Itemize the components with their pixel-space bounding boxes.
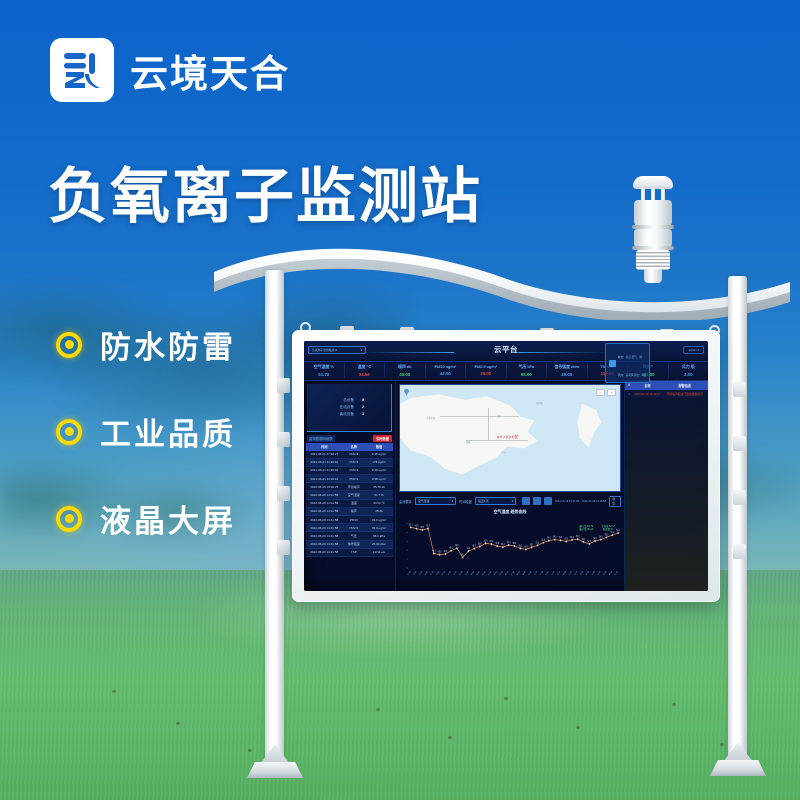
metric-label: PM10 ug/m³ <box>426 364 466 369</box>
table-row[interactable]: 2021-06-21 11:30:42PM2.50.38 ug/m³ <box>306 467 393 475</box>
monitoring-data-table[interactable]: 时间名称数值 2021-06-21 17:30:27PM2.50.38 ug/m… <box>306 443 393 592</box>
table-cell: 2020-06-16 16:30:27 <box>306 483 343 490</box>
metric-value: 98.00 <box>507 372 547 377</box>
table-cell: 2022-06-20 13:31:58 <box>306 508 343 515</box>
table-cell: 2021-06-21 11:30:42 <box>306 467 343 474</box>
table-cell: PM2.5 <box>343 475 366 482</box>
center-panel: 北京 上海 广州 成都 乌鲁木齐 哈尔滨 中华人民共和国 − + <box>396 381 624 592</box>
s-curve-canopy <box>212 244 792 320</box>
table-cell: 2022-06-20 13:31:58 <box>306 500 343 507</box>
svg-text:52.8: 52.8 <box>542 539 546 541</box>
svg-text:12:00: 12:00 <box>540 570 544 575</box>
svg-text:60.9: 60.9 <box>415 525 419 527</box>
svg-text:05:00: 05:00 <box>499 570 503 575</box>
table-row[interactable]: 2022-06-20 13:31:58PM1043.0 ug/m³ <box>306 516 393 524</box>
svg-text:15:00: 15:00 <box>557 570 561 575</box>
map-city-label: 哈尔滨 <box>536 401 543 405</box>
mount-bracket <box>733 382 746 397</box>
export-button[interactable]: 导出 <box>609 496 621 507</box>
table-cell: 2022-06-20 13:31:58 <box>306 516 343 523</box>
zoom-in-button[interactable]: + <box>607 389 616 396</box>
svg-text:02:00: 02:00 <box>482 570 486 575</box>
metric-cell: 风力 级3.00 <box>669 363 709 378</box>
svg-text:23:00: 23:00 <box>603 570 607 575</box>
svg-text:60.2: 60.2 <box>421 526 425 528</box>
table-cell: 噪声 <box>343 508 366 515</box>
table-row[interactable]: 2020-06-16 16:30:27环境噪声35.79 db <box>306 483 393 491</box>
svg-text:19:00: 19:00 <box>580 570 584 575</box>
svg-text:50.2: 50.2 <box>501 543 505 545</box>
table-cell: 0.38 ug/m³ <box>365 451 393 458</box>
svg-text:54.4: 54.4 <box>570 536 574 538</box>
table-cell: 35.79 db <box>365 483 393 490</box>
table-cell: 信号强度 <box>343 541 366 548</box>
left-panel: 总设备5在线设备2离线设备3 监测数据明细表 实时数据 时间名称数值 2021-… <box>304 381 396 592</box>
map-country-label: 中华人民共和国 <box>497 435 518 439</box>
feature-item: 防水防雷 <box>56 322 236 367</box>
svg-text:01:00: 01:00 <box>614 570 618 575</box>
map-city-label: 乌鲁木齐 <box>426 416 435 420</box>
table-row[interactable]: 2022-06-20 13:31:58信号强度25.00 dbm <box>306 541 393 549</box>
svg-text:16:00: 16:00 <box>563 570 567 575</box>
metric-value: 61.70 <box>304 372 344 377</box>
target-ring-icon <box>56 506 82 532</box>
table-cell: 2022-06-20 13:31:58 <box>306 524 343 531</box>
svg-text:17:00: 17:00 <box>430 570 434 575</box>
brand-lockup: 云境天合 <box>50 38 290 102</box>
table-cell: PM2.5 <box>343 459 366 466</box>
metric-value: 3.00 <box>669 372 709 377</box>
chart-title: 空气湿度 趋势曲线 <box>399 509 621 516</box>
device-stats-card: 总设备5在线设备2离线设备3 <box>307 384 392 432</box>
svg-text:00:00: 00:00 <box>609 570 613 575</box>
weather-cloud-icon <box>609 360 616 367</box>
svg-text:06:00: 06:00 <box>505 570 509 575</box>
svg-text:14:00: 14:00 <box>413 570 417 575</box>
svg-text:54.6: 54.6 <box>599 536 603 538</box>
page-title: 负氧离子监测站 <box>48 148 482 235</box>
weather-line-2: 风向：东南风 风力：3级 <box>618 374 646 377</box>
display-cabinet: 云平台 负氧离子监测站点01 ▾ 城市：北京 天气：晴 风向：东南风 风力：3级… <box>292 330 720 602</box>
table-cell: 2021-06-21 11:30:42 <box>306 459 343 466</box>
table-cell: PM2.5 <box>343 451 366 458</box>
date-to[interactable]: 2022-06-20 13:31:58 <box>582 500 606 503</box>
mount-bracket <box>277 486 290 501</box>
table-row[interactable]: 2022-06-20 13:31:58空气湿度61.7 % <box>306 491 393 499</box>
metric-cell: PM2.5 ug/m³35.00 <box>466 363 507 378</box>
table-row[interactable]: 2022-06-20 13:31:58PM2.535.0 ug/m³ <box>306 524 393 532</box>
svg-text:21:00: 21:00 <box>453 570 457 575</box>
svg-text:23:00: 23:00 <box>465 570 469 575</box>
table-cell: 2021-06-21 11:30:42 <box>306 475 343 482</box>
metric-cell: 信号强度 dbm25.00 <box>547 363 588 378</box>
support-post-left <box>265 270 284 770</box>
chevron-down-icon: ▾ <box>512 499 514 503</box>
post-base-left <box>247 762 303 778</box>
svg-text:10:00: 10:00 <box>528 570 532 575</box>
svg-text:01:00: 01:00 <box>476 570 480 575</box>
device-stat-label: 在线设备 <box>328 405 354 410</box>
metric-cell: 温度 ℃34.56 <box>345 363 386 378</box>
feature-item: 液晶大屏 <box>56 496 236 541</box>
svg-text:07:00: 07:00 <box>511 570 515 575</box>
device-stat-label: 离线设备 <box>328 412 354 417</box>
realtime-badge: 实时数据 <box>373 435 392 442</box>
metric-label: 空气湿度 % <box>304 364 344 370</box>
metric-label: 温度 ℃ <box>345 364 385 370</box>
svg-text:50.1: 50.1 <box>530 544 534 546</box>
svg-text:54.2: 54.2 <box>559 537 563 539</box>
table-cell: 2022-06-20 13:31:58 <box>306 532 343 539</box>
granularity-select-label: 时间粒度 <box>459 499 472 504</box>
svg-text:52.0: 52.0 <box>490 540 494 542</box>
table-cell: 117.0 um <box>365 549 393 556</box>
svg-text:18:00: 18:00 <box>574 570 578 575</box>
table-row[interactable]: 2022-06-20 13:31:58温度34.56 ℃ <box>306 500 393 508</box>
metric-value: 45.00 <box>385 372 425 377</box>
svg-text:16:00: 16:00 <box>424 570 428 575</box>
svg-text:49.6: 49.6 <box>455 545 459 547</box>
map-city-label: 北京 <box>497 414 501 418</box>
svg-text:48.9: 48.9 <box>524 546 528 548</box>
table-row[interactable]: 2021-06-21 11:30:42PM2.5176 ug/m³ <box>306 459 393 467</box>
svg-text:45.8: 45.8 <box>438 551 442 553</box>
brand-name: 云境天合 <box>130 43 290 98</box>
element-select-value: 空气湿度 <box>418 499 430 503</box>
svg-text:49.5: 49.5 <box>518 545 522 547</box>
map-city-label: 广州 <box>501 450 505 454</box>
table-cell: TSP <box>343 549 366 556</box>
svg-text:18:00: 18:00 <box>436 570 440 575</box>
device-stat-row: 总设备5 <box>309 398 389 403</box>
zoom-out-button[interactable]: − <box>596 389 605 396</box>
metric-label: 信号强度 dbm <box>547 364 587 370</box>
mount-bracket <box>733 544 746 559</box>
table-row[interactable]: 2022-06-20 13:31:58噪声45 db <box>306 508 393 516</box>
svg-text:17:00: 17:00 <box>568 570 572 575</box>
feature-label: 防水防雷 <box>100 322 236 367</box>
table-cell: 2022-06-20 13:31:58 <box>306 491 343 498</box>
metric-cell: 空气湿度 %61.70 <box>304 363 345 378</box>
table-row[interactable]: 2022-06-20 13:31:58TSP117.0 um <box>306 549 393 557</box>
table-cell: 61.7 % <box>365 491 393 498</box>
svg-text:46.5: 46.5 <box>432 550 436 552</box>
svg-text:11:00: 11:00 <box>534 570 538 575</box>
table-column-header: 名称 <box>343 443 366 451</box>
table-cell: 43.0 ug/m³ <box>365 516 393 523</box>
alarm-cell: 1 <box>625 390 633 398</box>
device-stat-label: 总设备 <box>328 398 354 403</box>
dashboard-header: 云平台 负氧离子监测站点01 ▾ 城市：北京 天气：晴 风向：东南风 风力：3级… <box>304 341 708 361</box>
svg-text:53.2: 53.2 <box>582 538 586 540</box>
user-menu[interactable]: admin ▾ <box>683 346 704 354</box>
metric-label: 风力 级 <box>669 364 709 370</box>
svg-text:61.0: 61.0 <box>426 525 430 527</box>
metric-label: 气压 kPa <box>507 364 547 370</box>
device-stat-row: 离线设备3 <box>309 412 389 417</box>
table-cell: 2022-06-20 13:31:58 <box>306 541 343 548</box>
table-cell: 34.56 ℃ <box>365 500 393 507</box>
alarm-empty-area <box>625 398 708 592</box>
alarm-row[interactable]: 12020-06-16 16:30:27环境噪声超过门限值报警提示 <box>625 390 708 398</box>
metric-value: 25.00 <box>547 372 587 377</box>
device-stat-value: 3 <box>362 412 370 416</box>
svg-text:04:00: 04:00 <box>494 570 498 575</box>
device-stat-value: 2 <box>362 405 370 409</box>
metric-cell: 气压 kPa98.00 <box>507 363 548 378</box>
weather-widget: 城市：北京 天气：晴 风向：东南风 风力：3级 <box>605 343 650 383</box>
svg-text:15:00: 15:00 <box>419 570 423 575</box>
svg-text:49.3: 49.3 <box>472 545 476 547</box>
svg-text:00:00: 00:00 <box>471 570 475 575</box>
metric-value: 43.00 <box>426 371 466 376</box>
chevron-down-icon: ▾ <box>452 499 454 503</box>
svg-text:55.9: 55.9 <box>605 534 609 536</box>
chart-toolbar: 监测要素 空气湿度 ▾ 时间粒度 最近1天 ▾ <box>399 495 621 509</box>
svg-text:54.9: 54.9 <box>576 535 580 537</box>
line-chart-icon[interactable] <box>533 497 541 505</box>
svg-text:50.8: 50.8 <box>495 542 499 544</box>
svg-text:58.4: 58.4 <box>616 529 620 531</box>
table-cell: PM2.5 <box>343 524 366 531</box>
svg-text:03:00: 03:00 <box>488 570 492 575</box>
svg-text:14:00: 14:00 <box>551 570 555 575</box>
svg-text:54.0: 54.0 <box>547 537 551 539</box>
element-select-label: 监测要素 <box>399 499 412 504</box>
svg-text:20:00: 20:00 <box>586 570 590 575</box>
svg-text:53.8: 53.8 <box>593 537 597 539</box>
svg-text:57.2: 57.2 <box>611 531 615 533</box>
svg-text:20:00: 20:00 <box>447 570 451 575</box>
metric-value: 34.56 <box>345 372 385 377</box>
table-column-header: 时间 <box>306 443 343 451</box>
svg-text:50.9: 50.9 <box>513 542 517 544</box>
alarm-panel: # 名称 报警信息 12020-06-16 16:30:27环境噪声超过门限值报… <box>624 381 708 592</box>
trend-line-plot: 61.760.960.261.046.545.846.248.149.644.2… <box>399 516 621 589</box>
mount-bracket <box>277 378 290 393</box>
svg-text:19:00: 19:00 <box>442 570 446 575</box>
svg-text:13:00: 13:00 <box>545 570 549 575</box>
table-cell: 35.0 ug/m³ <box>365 524 393 531</box>
table-row[interactable]: 2022-06-20 13:31:58气压98.0 kPa <box>306 532 393 540</box>
table-cell: 2022-06-20 13:31:58 <box>306 549 343 556</box>
weather-line-1: 城市：北京 天气：晴 <box>618 356 642 359</box>
table-cell: 45 db <box>365 508 393 515</box>
granularity-select[interactable]: 最近1天 ▾ <box>475 497 516 505</box>
table-icon[interactable] <box>544 497 552 505</box>
feature-label: 工业品质 <box>100 409 236 454</box>
trend-chart-panel: 监测要素 空气湿度 ▾ 时间粒度 最近1天 ▾ <box>399 495 621 589</box>
svg-text:08:00: 08:00 <box>517 570 521 575</box>
metric-cell: PM10 ug/m³43.00 <box>426 363 467 378</box>
feature-list: 防水防雷工业品质液晶大屏 <box>56 322 236 541</box>
svg-text:22:00: 22:00 <box>597 570 601 575</box>
table-cell: PM10 <box>343 516 366 523</box>
station-map[interactable]: 北京 上海 广州 成都 乌鲁木齐 哈尔滨 中华人民共和国 − + <box>399 384 621 492</box>
table-cell: 0.38 ug/m³ <box>365 467 393 474</box>
metric-cell: 噪声 db45.00 <box>385 363 426 378</box>
data-table-header-bar: 监测数据明细表 实时数据 <box>304 435 395 443</box>
table-column-header: 数值 <box>365 443 393 451</box>
svg-text:53.5: 53.5 <box>565 538 569 540</box>
zr-monogram-logo-icon <box>50 38 114 102</box>
table-cell: 2021-06-21 17:30:27 <box>306 451 343 458</box>
table-cell: 空气湿度 <box>343 491 366 498</box>
svg-text:51.4: 51.4 <box>507 541 511 543</box>
svg-text:21:00: 21:00 <box>591 570 595 575</box>
svg-text:54.6: 54.6 <box>553 536 557 538</box>
post-base-right <box>710 760 766 776</box>
alarm-cell: 2020-06-16 16:30:27 <box>633 390 661 398</box>
device-stat-value: 5 <box>362 398 370 402</box>
feature-label: 液晶大屏 <box>100 496 236 541</box>
table-cell: 0.38 ug/m³ <box>365 475 393 482</box>
table-cell: 98.0 kPa <box>365 532 393 539</box>
lcd-screen: 云平台 负氧离子监测站点01 ▾ 城市：北京 天气：晴 风向：东南风 风力：3级… <box>304 341 708 591</box>
target-ring-icon <box>56 332 82 358</box>
metric-label: PM2.5 ug/m³ <box>466 364 506 369</box>
svg-text:13:00: 13:00 <box>407 570 411 575</box>
bar-chart-icon[interactable] <box>522 497 530 505</box>
table-cell: 25.00 dbm <box>365 541 393 548</box>
target-ring-icon <box>56 419 82 445</box>
metric-label: 噪声 db <box>385 364 425 370</box>
svg-text:52.4: 52.4 <box>484 540 488 542</box>
site-select-value: 负氧离子监测站点01 <box>312 348 338 352</box>
svg-text:61.7: 61.7 <box>409 524 413 526</box>
data-table-caption: 监测数据明细表 <box>307 435 335 442</box>
table-row[interactable]: 2021-06-21 11:30:42PM2.50.38 ug/m³ <box>306 475 393 483</box>
svg-text:09:00: 09:00 <box>522 570 526 575</box>
table-head-row: 时间名称数值 <box>306 443 393 451</box>
alarm-col-msg: 报警信息 <box>662 381 708 390</box>
date-from[interactable]: 2022-06-19 13:31:58 <box>555 500 579 503</box>
device-stat-row: 在线设备2 <box>309 405 389 410</box>
table-cell: 环境噪声 <box>343 483 366 490</box>
map-zoom-controls[interactable]: − + <box>596 389 616 396</box>
svg-text:22:00: 22:00 <box>459 570 463 575</box>
element-select[interactable]: 空气湿度 ▾ <box>415 497 456 505</box>
alarm-cell: 环境噪声超过门限值报警提示 <box>662 390 708 398</box>
mount-bracket <box>733 490 746 505</box>
feature-item: 工业品质 <box>56 409 236 454</box>
granularity-select-value: 最近1天 <box>478 499 489 503</box>
support-post-right <box>728 276 747 770</box>
table-cell: 温度 <box>343 500 366 507</box>
table-cell: 176 ug/m³ <box>365 459 393 466</box>
metric-value: 35.00 <box>466 371 506 376</box>
map-city-label: 成都 <box>466 440 470 444</box>
mount-bracket <box>277 432 290 447</box>
table-cell: 气压 <box>343 532 366 539</box>
mount-bracket <box>733 436 746 451</box>
table-row[interactable]: 2021-06-21 17:30:27PM2.50.38 ug/m³ <box>306 451 393 459</box>
mount-bracket <box>277 540 290 555</box>
site-select[interactable]: 负氧离子监测站点01 ▾ <box>308 346 366 354</box>
chevron-down-icon: ▾ <box>361 348 362 352</box>
table-cell: PM2.5 <box>343 467 366 474</box>
